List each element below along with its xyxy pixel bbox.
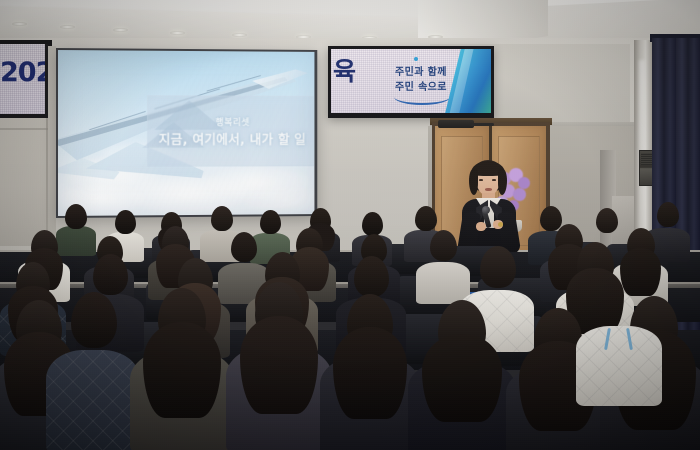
audience-hair: [422, 334, 502, 422]
projection-screen-frame: 행복리셋 지금, 여기에서, 내가 할 일: [56, 48, 317, 218]
audience-member: [576, 278, 662, 398]
smile-curve-icon: [394, 89, 450, 105]
left-led-text: 202: [0, 57, 48, 88]
audience-head: [354, 256, 389, 297]
downlight-icon: [232, 33, 247, 37]
side-led-surface: 육 주민과 함께 주민 속으로: [331, 49, 491, 113]
fabric-texture: [576, 326, 662, 406]
audience-member: [226, 282, 332, 450]
audience-member: [408, 300, 516, 450]
downlight-icon: [113, 28, 128, 32]
presenter-hair-side: [498, 169, 507, 195]
door-closer-arm: [470, 123, 494, 126]
fabric-texture: [46, 350, 140, 450]
audience-hair: [143, 322, 221, 418]
audience-head: [115, 210, 136, 234]
audience-head: [65, 204, 87, 229]
audience-body: [576, 326, 662, 406]
audience-head: [260, 210, 281, 234]
left-led-panel: 202: [0, 44, 48, 118]
audience-head: [71, 292, 117, 348]
audience-hair: [240, 316, 318, 414]
seated-audience: [0, 196, 700, 450]
audience-head: [657, 202, 679, 227]
presenter-eye: [492, 179, 496, 181]
audience-member: [320, 294, 420, 450]
downlight-icon: [170, 31, 185, 35]
presenter-eye: [479, 179, 483, 181]
door-closer-icon: [438, 120, 474, 128]
audience-head: [362, 212, 383, 236]
audience-head: [480, 246, 516, 288]
audience-head: [415, 206, 437, 231]
audience-head: [93, 254, 128, 295]
presenter-mouth: [485, 188, 492, 191]
audience-body: [46, 350, 140, 450]
side-led-slogan-line1: 주민과 함께: [395, 63, 447, 78]
side-led-panel: 육 주민과 함께 주민 속으로: [328, 46, 494, 118]
audience-member: [130, 288, 234, 450]
slide-text-overlay: 행복리셋 지금, 여기에서, 내가 할 일: [147, 95, 314, 166]
side-led-partial-char: 육: [333, 59, 356, 84]
wall-seam: [0, 128, 48, 130]
projection-screen: 행복리셋 지금, 여기에서, 내가 할 일: [58, 50, 314, 216]
downlight-icon: [12, 22, 27, 26]
audience-head: [430, 230, 457, 261]
slide-title: 행복리셋: [148, 115, 314, 128]
slogan-dot-icon: [414, 57, 418, 61]
slide-subtitle: 지금, 여기에서, 내가 할 일: [148, 129, 314, 148]
downlight-icon: [60, 25, 75, 29]
audience-hair: [333, 327, 407, 419]
audience-member: [46, 292, 140, 450]
audience-head: [211, 206, 233, 231]
presenter-hair-side: [469, 169, 478, 195]
lecture-hall-photo: 202 행복리셋 지금, 여기에서, 내가 할 일: [0, 0, 700, 450]
